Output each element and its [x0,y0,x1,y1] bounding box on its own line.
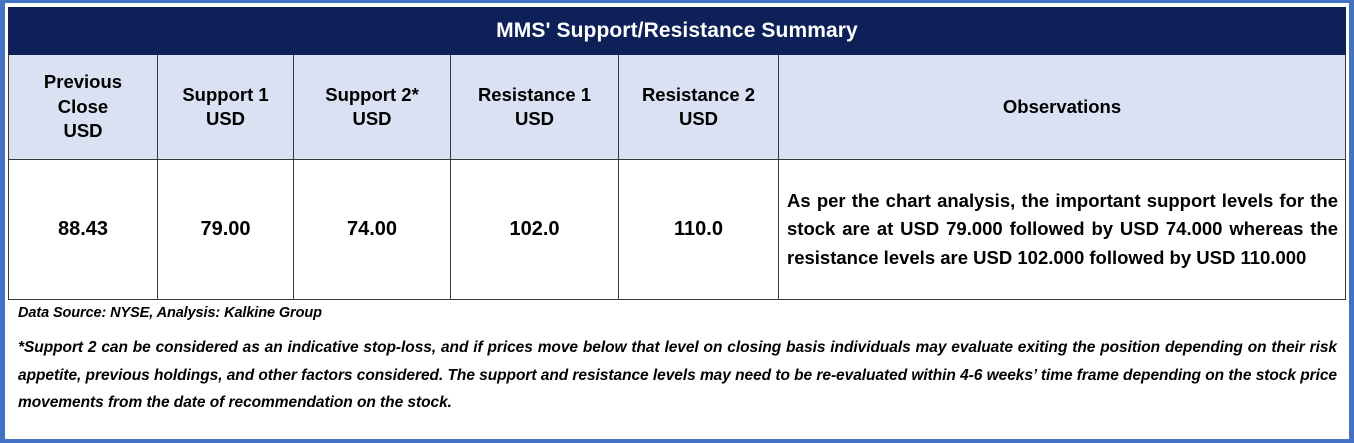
table-title-row: MMS' Support/Resistance Summary [9,8,1346,55]
table-title: MMS' Support/Resistance Summary [9,8,1346,55]
header-line-2: Close [11,95,155,119]
header-line-1: Support 1 [160,83,291,107]
data-source-note: Data Source: NYSE, Analysis: Kalkine Gro… [8,300,1346,321]
table-row: 88.43 79.00 74.00 102.0 110.0 As per the… [9,160,1346,300]
cell-resistance-2: 110.0 [619,160,779,300]
header-line-2: USD [453,107,616,131]
document-frame: MMS' Support/Resistance Summary Previous… [0,0,1354,443]
support-resistance-table: MMS' Support/Resistance Summary Previous… [8,7,1346,300]
support-2-footnote: *Support 2 can be considered as an indic… [8,321,1346,417]
column-header-previous-close: Previous Close USD [9,55,158,160]
header-line-1: Observations [781,95,1343,119]
header-line-2: USD [296,107,448,131]
header-line-1: Support 2* [296,83,448,107]
header-line-2: USD [160,107,291,131]
header-line-2: USD [621,107,776,131]
cell-support-2: 74.00 [294,160,451,300]
column-header-support-2: Support 2* USD [294,55,451,160]
table-header-row: Previous Close USD Support 1 USD Support… [9,55,1346,160]
header-line-3: USD [11,119,155,143]
column-header-resistance-2: Resistance 2 USD [619,55,779,160]
cell-support-1: 79.00 [158,160,294,300]
cell-resistance-1: 102.0 [451,160,619,300]
column-header-resistance-1: Resistance 1 USD [451,55,619,160]
header-line-1: Resistance 1 [453,83,616,107]
header-line-1: Previous [11,70,155,94]
cell-previous-close: 88.43 [9,160,158,300]
column-header-support-1: Support 1 USD [158,55,294,160]
document-body: MMS' Support/Resistance Summary Previous… [5,3,1349,439]
column-header-observations: Observations [779,55,1346,160]
cell-observations: As per the chart analysis, the important… [779,160,1346,300]
header-line-1: Resistance 2 [621,83,776,107]
